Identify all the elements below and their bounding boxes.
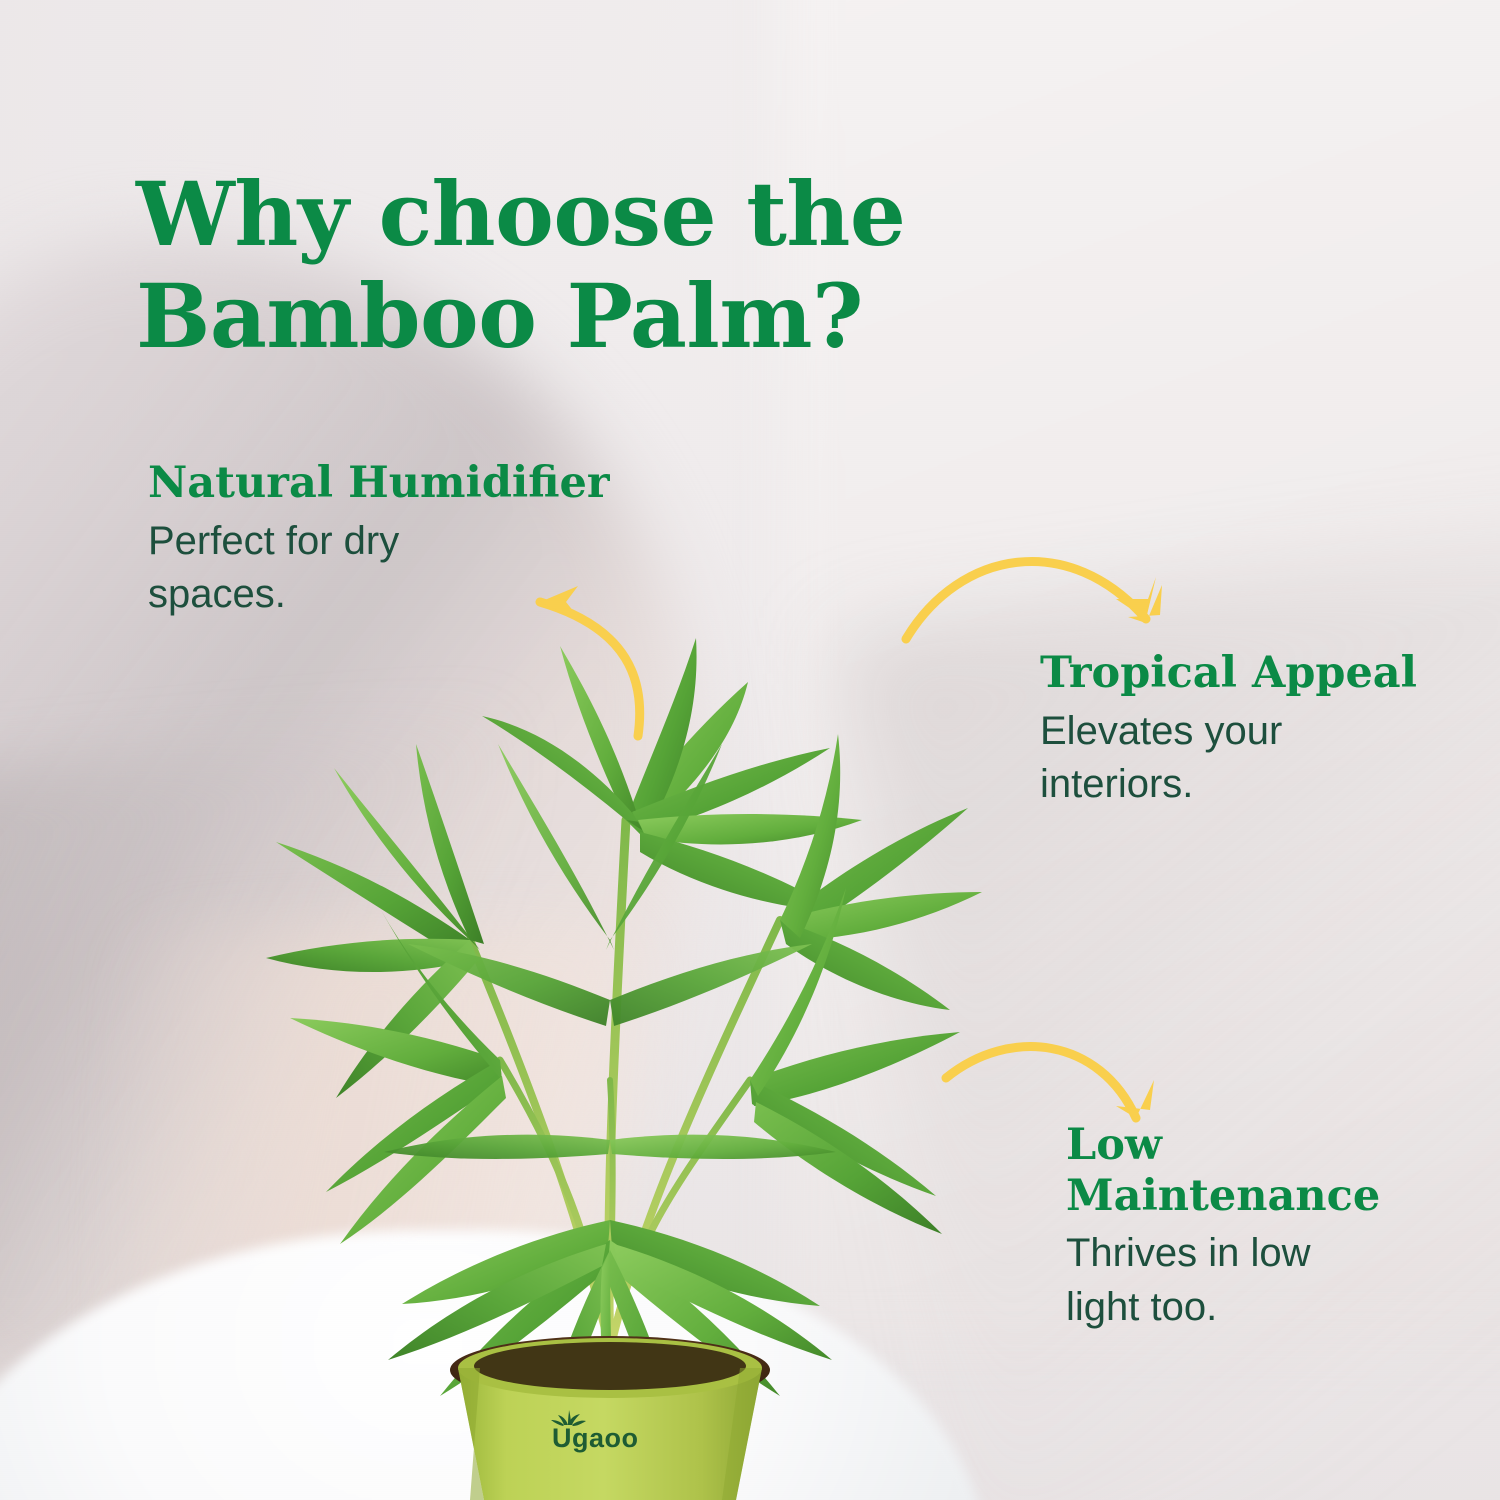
feature-title: Natural Humidifier (148, 458, 708, 509)
feature-natural-humidifier: Natural Humidifier Perfect for dry space… (148, 458, 708, 622)
headline-line-2: Bamboo Palm? (136, 265, 1016, 367)
feature-tropical-appeal: Tropical Appeal Elevates your interiors. (1040, 648, 1500, 812)
ugaoo-wordmark: Ugaoo (552, 1423, 639, 1453)
feature-description: Thrives in low light too. (1066, 1227, 1486, 1334)
feature-low-maintenance: Low Maintenance Thrives in low light too… (1066, 1120, 1486, 1335)
feature-description: Perfect for dry spaces. (148, 515, 708, 622)
headline-line-1: Why choose the (136, 162, 905, 266)
plant-pot: Ugaoo (458, 1338, 762, 1500)
feature-title: Low Maintenance (1066, 1120, 1486, 1221)
feature-description: Elevates your interiors. (1040, 705, 1500, 812)
page-title: Why choose the Bamboo Palm? (136, 163, 1016, 367)
feature-title: Tropical Appeal (1040, 648, 1500, 699)
bamboo-palm-plant-image: Ugaoo (140, 520, 1080, 1500)
promo-poster: Ugaoo Why choose the Bamboo Palm? Natura (0, 0, 1500, 1500)
